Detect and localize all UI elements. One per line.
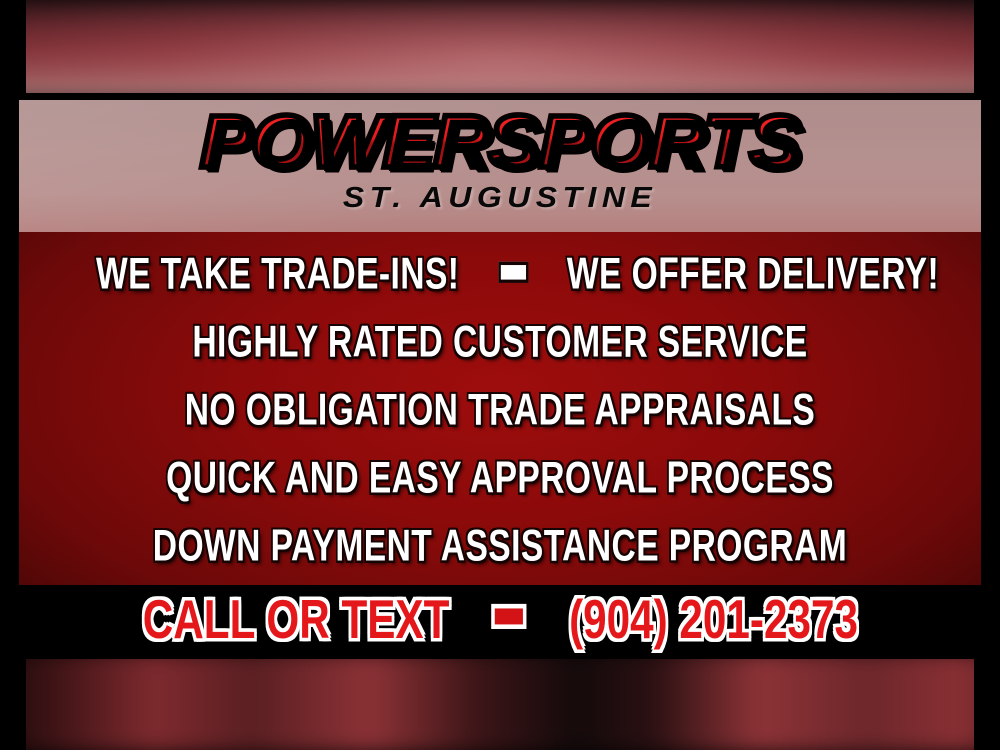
backdrop-top-blur — [0, 0, 1000, 100]
brand-name: POWERSPORTS — [200, 104, 800, 178]
offer-trade-appraisals: NO OBLIGATION TRADE APPRAISALS — [96, 387, 904, 432]
poster-stage: POWERSPORTS ST. AUGUSTINE WE TAKE TRADE-… — [0, 0, 1000, 750]
call-or-text-label: CALL OR TEXT — [142, 590, 449, 650]
offer-trade-ins-delivery: WE TAKE TRADE-INS!WE OFFER DELIVERY! — [96, 251, 904, 296]
offer-approval-process: QUICK AND EASY APPROVAL PROCESS — [96, 455, 904, 500]
offer-down-payment: DOWN PAYMENT ASSISTANCE PROGRAM — [96, 523, 904, 568]
contact-line[interactable]: CALL OR TEXT(904) 201-2373 — [142, 594, 857, 649]
dash-separator-2-icon — [491, 604, 526, 629]
dash-separator-icon — [498, 261, 528, 282]
offer-left-text: WE TAKE TRADE-INS! — [96, 249, 459, 298]
brand-location: ST. AUGUSTINE — [19, 182, 981, 215]
offer-right-text: WE OFFER DELIVERY! — [567, 249, 939, 298]
phone-number[interactable]: (904) 201-2373 — [569, 590, 858, 650]
offers-list: WE TAKE TRADE-INS!WE OFFER DELIVERY! HIG… — [19, 232, 981, 585]
offers-panel: WE TAKE TRADE-INS!WE OFFER DELIVERY! HIG… — [19, 232, 981, 585]
brand-logo: POWERSPORTS — [19, 108, 981, 174]
backdrop-bottom-blur — [0, 650, 1000, 750]
brand-header-panel: POWERSPORTS ST. AUGUSTINE — [19, 100, 981, 232]
offer-customer-service: HIGHLY RATED CUSTOMER SERVICE — [96, 319, 904, 364]
contact-bar[interactable]: CALL OR TEXT(904) 201-2373 — [19, 585, 981, 657]
